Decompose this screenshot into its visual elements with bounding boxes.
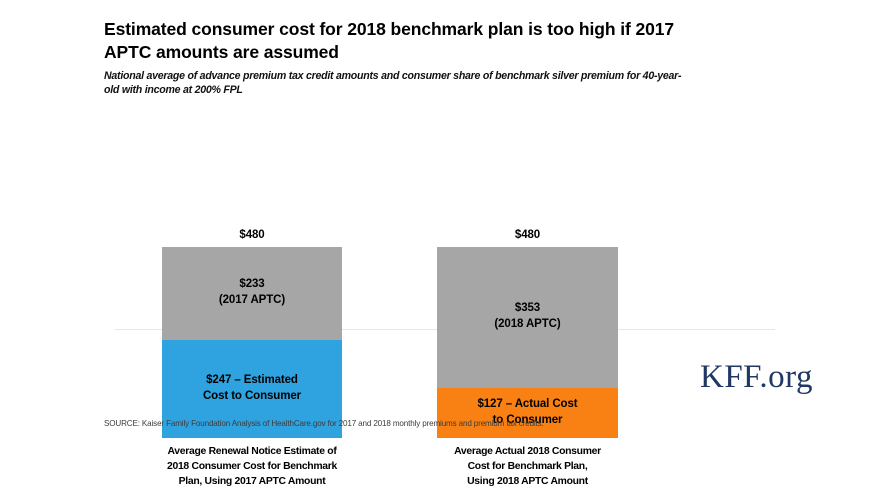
source-note: SOURCE: Kaiser Family Foundation Analysi…	[104, 419, 544, 428]
kff-logo: KFF.org	[700, 359, 813, 396]
x-axis-category-label: Average Actual 2018 Consumer Cost for Be…	[419, 445, 636, 489]
bar-segment-label: $247 – Estimated Cost to Consumer	[203, 373, 301, 405]
bar-total-label: $480	[437, 229, 618, 241]
bar-total-label: $480	[162, 229, 342, 241]
bar-stack: $353 (2018 APTC) $127 – Actual Cost to C…	[437, 247, 618, 438]
page-title: Estimated consumer cost for 2018 benchma…	[104, 18, 704, 65]
bar-group: $480 $233 (2017 APTC) $247 – Estimated C…	[162, 109, 342, 438]
bar-stack: $233 (2017 APTC) $247 – Estimated Cost t…	[162, 247, 342, 438]
bar-segment-aptc: $233 (2017 APTC)	[162, 247, 342, 340]
bar-segment-label: $233 (2017 APTC)	[219, 277, 285, 309]
bar-group: $480 $353 (2018 APTC) $127 – Actual Cost…	[437, 109, 618, 438]
bar-segment-consumer: $127 – Actual Cost to Consumer	[437, 388, 618, 439]
chart-plot-area: Estimated consumer cost for 2018 benchma…	[0, 0, 877, 438]
chart-subtitle: National average of advance premium tax …	[104, 69, 682, 98]
chart-header: Estimated consumer cost for 2018 benchma…	[104, 18, 704, 98]
bar-segment-aptc: $353 (2018 APTC)	[437, 247, 618, 388]
bar-segment-label: $353 (2018 APTC)	[494, 301, 560, 333]
x-axis-category-label: Average Renewal Notice Estimate of 2018 …	[144, 445, 360, 489]
